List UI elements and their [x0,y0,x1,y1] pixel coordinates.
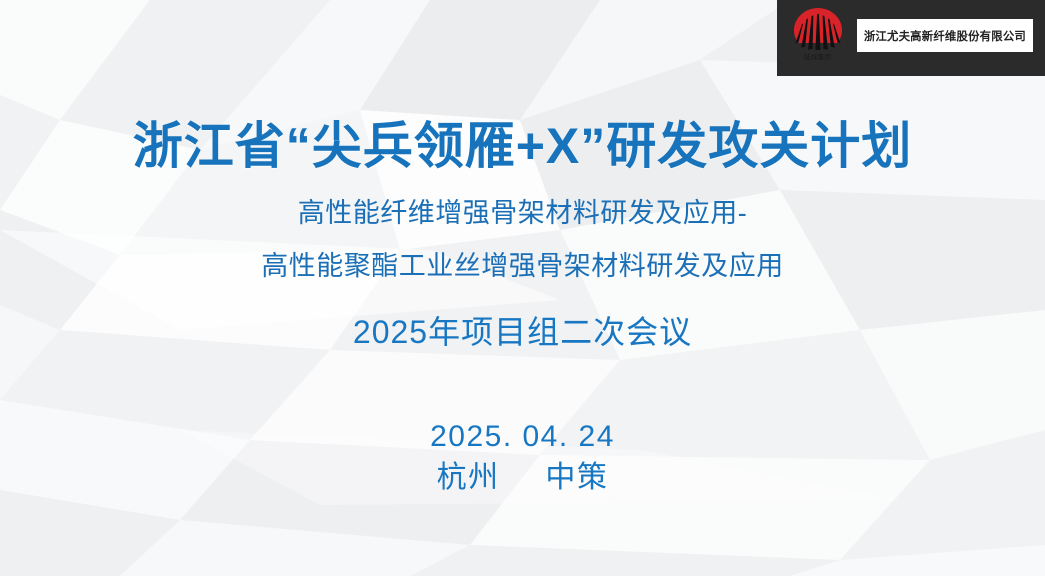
slide-header: 陡煤集团 浙江尤夫高新纤维股份有限公司 [0,0,1045,76]
presentation-slide: 陡煤集团 浙江尤夫高新纤维股份有限公司 浙江省“尖兵领雁+X”研发攻关计划 高性… [0,0,1045,576]
event-city: 杭州 [437,461,500,494]
dome-logo-mark [790,6,846,52]
slide-footer: 2025. 04. 24 杭州 中策 [430,419,615,498]
meeting-title: 2025年项目组二次会议 [353,307,692,353]
event-venue: 中策 [545,461,608,494]
company-dome-logo: 陡煤集团 [789,6,847,70]
event-date: 2025. 04. 24 [430,419,615,456]
event-location: 杭州 中策 [430,459,615,497]
company-name: 浙江尤夫高新纤维股份有限公司 [864,28,1026,44]
logo-caption: 陡煤集团 [805,53,832,61]
company-name-plate: 浙江尤夫高新纤维股份有限公司 [857,19,1033,52]
slide-content: 浙江省“尖兵领雁+X”研发攻关计划 高性能纤维增强骨架材料研发及应用- 高性能聚… [0,0,1045,576]
main-title: 浙江省“尖兵领雁+X”研发攻关计划 [133,118,913,174]
subtitle-line-2: 高性能聚酯工业丝增强骨架材料研发及应用 [261,251,784,282]
subtitle-line-1: 高性能纤维增强骨架材料研发及应用- [298,198,748,229]
